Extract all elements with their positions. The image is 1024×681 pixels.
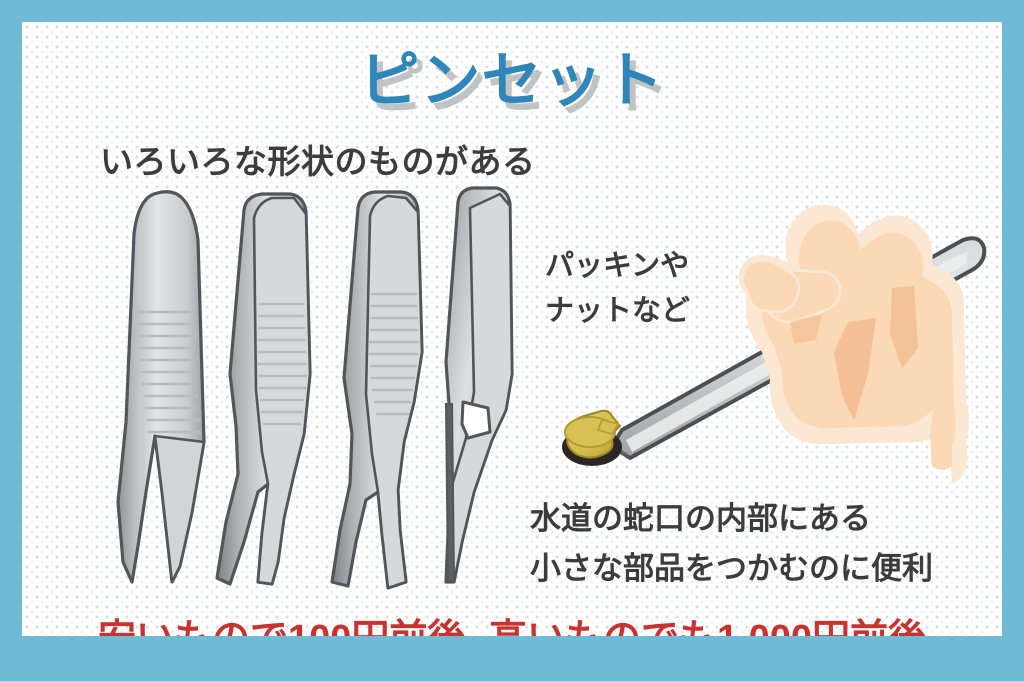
- price-expensive: 高いものでも1,000円前後: [489, 607, 926, 636]
- price-range: 安いもので100円前後 高いものでも1,000円前後: [22, 607, 1002, 636]
- tweezers-angled-flat: [217, 194, 310, 584]
- infographic-frame: ピンセット いろいろな形状のものがある パッキンや ナットなど 水道の蛇口の内部…: [0, 0, 1024, 681]
- callout-line-1: パッキンや: [545, 244, 690, 289]
- infographic-canvas: ピンセット いろいろな形状のものがある パッキンや ナットなど 水道の蛇口の内部…: [22, 22, 1002, 636]
- usage-line-1: 水道の蛇口の内部にある: [530, 494, 933, 544]
- page-title: ピンセット: [22, 32, 1002, 119]
- hand-holding-tweezers: [739, 205, 969, 485]
- headline-variety: いろいろな形状のものがある: [100, 135, 536, 183]
- tweezers-pointed-tip: [118, 192, 204, 582]
- callout-parts: パッキンや ナットなど: [545, 244, 690, 334]
- usage-line-2: 小さな部品をつかむのに便利: [530, 544, 933, 594]
- tweezers-stepped-flat: [332, 192, 422, 588]
- faucet-packing-nut: [562, 411, 622, 466]
- price-cheap: 安いもので100円前後: [98, 607, 465, 636]
- callout-line-2: ナットなど: [545, 289, 690, 334]
- usage-description: 水道の蛇口の内部にある 小さな部品をつかむのに便利: [530, 494, 933, 594]
- tweezers-slotted-needle: [446, 188, 512, 582]
